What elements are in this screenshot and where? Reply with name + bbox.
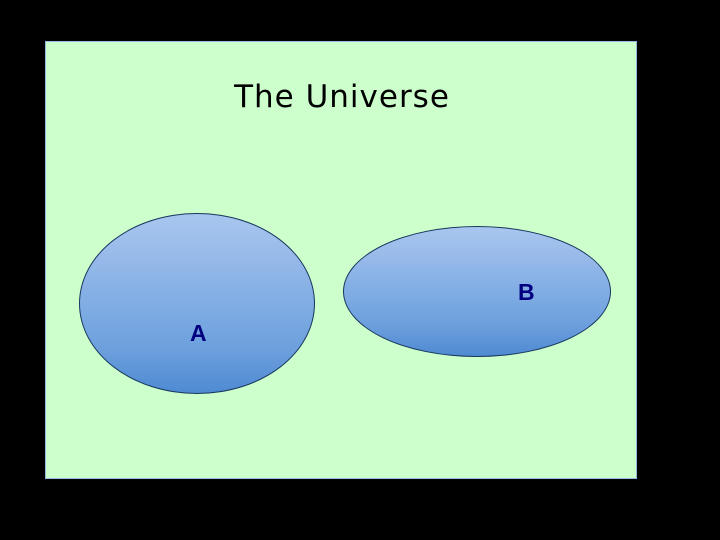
universe-rectangle[interactable]: The Universe A B — [45, 41, 637, 479]
set-b-label: B — [518, 281, 535, 304]
venn-diagram-slide: The Universe A B — [0, 0, 720, 540]
set-b-shape[interactable]: B — [343, 226, 611, 357]
set-a-label: A — [190, 322, 207, 345]
set-a-shape[interactable]: A — [79, 213, 315, 394]
universe-title: The Universe — [46, 80, 638, 114]
